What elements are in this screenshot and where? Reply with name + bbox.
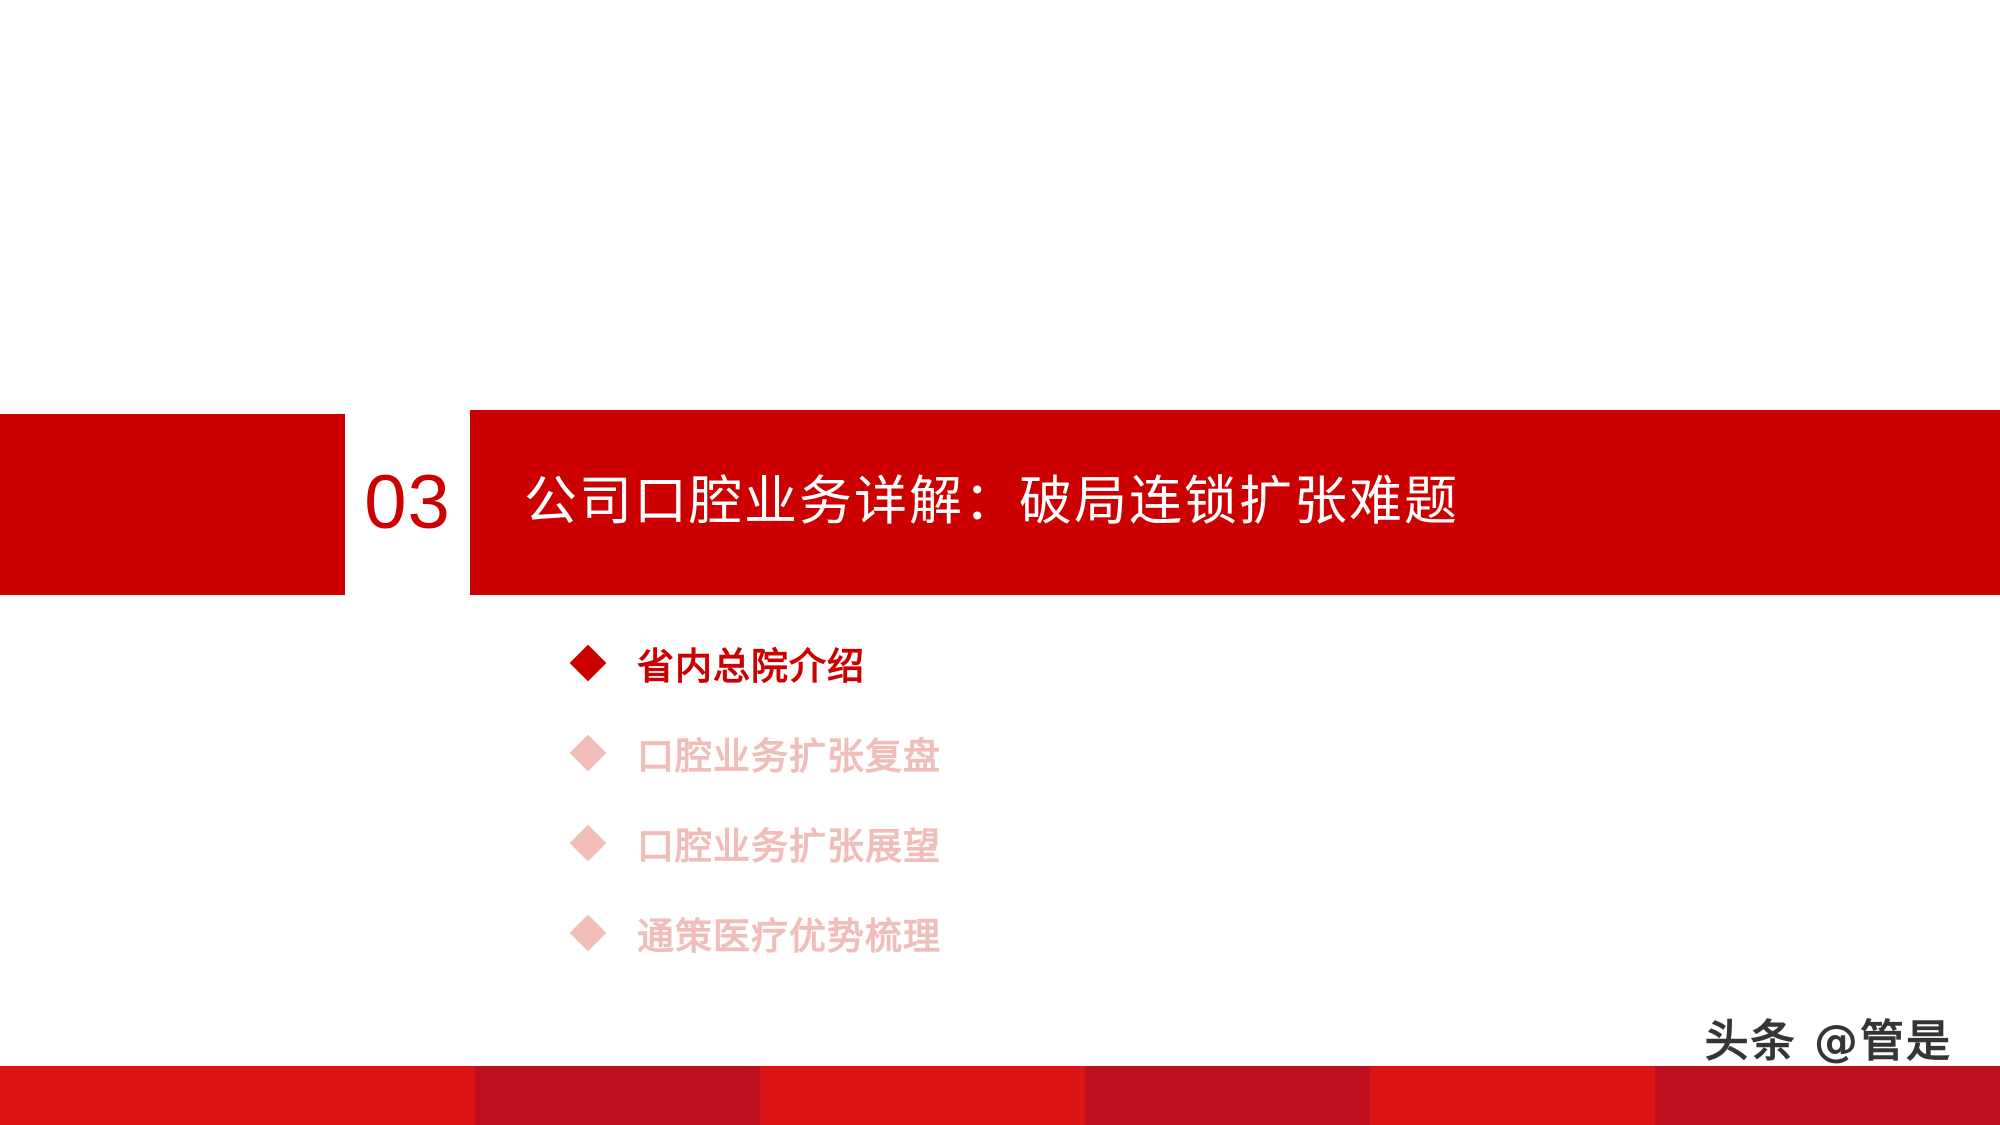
agenda-list: 省内总院介绍 口腔业务扩张复盘 口腔业务扩张展望 通策医疗优势梳理: [575, 628, 1475, 968]
diamond-bullet-icon: [570, 825, 607, 862]
agenda-item-3[interactable]: 通策医疗优势梳理: [575, 898, 1475, 968]
diamond-bullet-icon: [570, 645, 607, 682]
agenda-item-0[interactable]: 省内总院介绍: [575, 628, 1475, 698]
strip-segment-2: [760, 1066, 1085, 1125]
watermark: 头条 @管是: [1705, 1005, 1952, 1069]
agenda-item-label: 口腔业务扩张复盘: [637, 726, 941, 780]
strip-segment-1: [475, 1066, 760, 1125]
agenda-item-label: 口腔业务扩张展望: [637, 816, 941, 870]
agenda-item-1[interactable]: 口腔业务扩张复盘: [575, 718, 1475, 788]
strip-segment-4: [1370, 1066, 1655, 1125]
bottom-decorative-strip: [0, 1066, 2000, 1125]
strip-segment-3: [1085, 1066, 1370, 1125]
agenda-item-label: 省内总院介绍: [637, 636, 865, 690]
strip-segment-0: [0, 1066, 475, 1125]
banner-left-block: [0, 414, 345, 595]
agenda-item-label: 通策医疗优势梳理: [637, 906, 941, 960]
strip-segment-5: [1655, 1066, 2000, 1125]
diamond-bullet-icon: [570, 735, 607, 772]
presentation-slide: 03 公司口腔业务详解：破局连锁扩张难题 省内总院介绍 口腔业务扩张复盘 口腔业…: [0, 0, 2000, 1125]
section-number: 03: [345, 410, 470, 595]
section-title: 公司口腔业务详解：破局连锁扩张难题: [524, 410, 1459, 595]
diamond-bullet-icon: [570, 915, 607, 952]
agenda-item-2[interactable]: 口腔业务扩张展望: [575, 808, 1475, 878]
